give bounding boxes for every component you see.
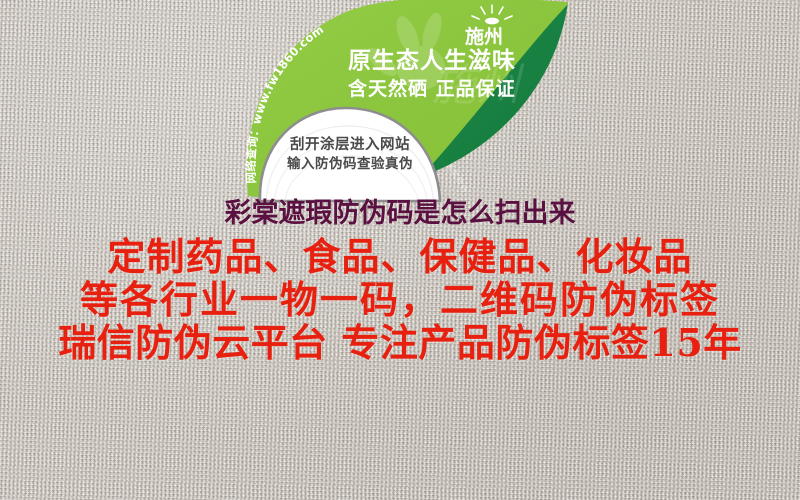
headline-block: 彩棠遮瑕防伪码是怎么扫出来 定制药品、食品、保健品、化妆品 等各行业一物一码，二… [0,200,800,362]
scratch-instruction-line1: 刮开涂层进入网站 [290,135,410,153]
page-title: 彩棠遮瑕防伪码是怎么扫出来 [0,200,800,233]
sprout-leaf-icon [485,18,499,25]
headline-line-3: 瑞信防伪云平台 专注产品防伪标签15年 [0,319,800,362]
headline-line-2: 等各行业一物一码，二维码防伪标签 [0,276,800,319]
scratch-instruction-line2: 输入防伪码查验真伪 [287,155,413,172]
headline-line-1: 定制药品、食品、保健品、化妆品 [0,233,800,276]
brand-mark-label: 施州 [465,25,503,48]
leaf-logo: 施州 网络查询：www.fw1860.com 施州 原生 [236,0,576,206]
poster-canvas: 瑞信防伪 [0,0,800,500]
slogan-sub: 含天然硒 正品保证 [348,77,516,100]
slogan-main: 原生态人生滋味 [348,47,516,74]
